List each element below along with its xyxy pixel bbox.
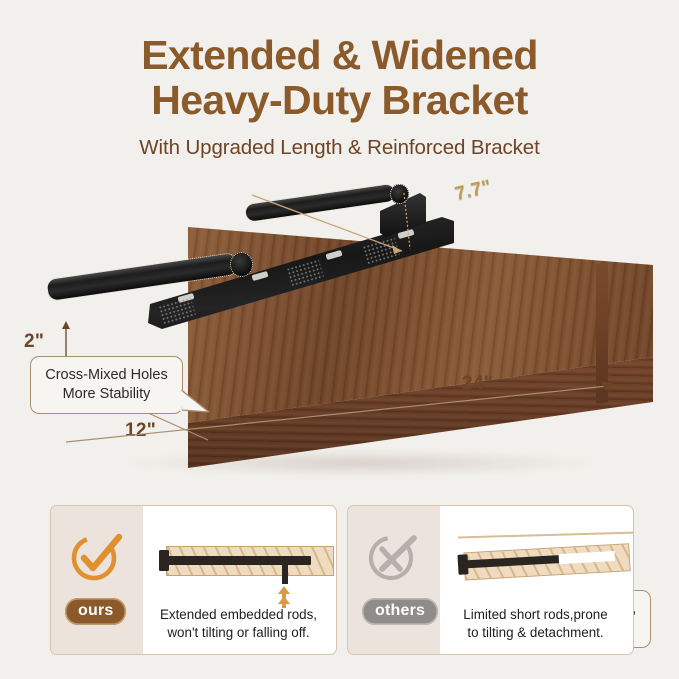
page-title: Extended & Widened Heavy-Duty Bracket (0, 33, 679, 123)
callout-cross-mixed-holes: Cross-Mixed Holes More Stability (30, 356, 183, 414)
up-arrow-icon-ours (277, 586, 291, 608)
panel-ours-caption: Extended embedded rods, won't tilting or… (147, 606, 330, 641)
product-hero-illustration: 7.7" 2" 12" 24" Cross-Mixed Holes More S… (0, 165, 679, 490)
embedded-rod-ours (167, 556, 311, 565)
panel-others-caption: Limited short rods,prone to tilting & de… (444, 606, 627, 641)
caption-line-1: Extended embedded rods, (147, 606, 330, 624)
product-infographic: Extended & Widened Heavy-Duty Bracket Wi… (0, 0, 679, 679)
dimension-label-rod-length: 7.7" (453, 176, 494, 206)
page-subtitle: With Upgraded Length & Reinforced Bracke… (0, 136, 679, 160)
comparison-panel-ours: ours Extended embedded rods, won't tilti… (50, 505, 337, 655)
badge-others: others (362, 598, 438, 625)
comparison-section: ours Extended embedded rods, won't tilti… (0, 505, 679, 665)
detach-gap-line (458, 532, 634, 539)
callout-tail (180, 387, 210, 413)
callout-line-2: More Stability (42, 385, 171, 404)
caption-line-2: to tilting & detachment. (444, 624, 627, 642)
caption-line-1: Limited short rods,prone (444, 606, 627, 624)
callout-line-1: Cross-Mixed Holes (42, 366, 171, 385)
check-circle-icon (69, 532, 125, 584)
x-circle-icon (366, 532, 422, 584)
caption-line-2: won't tilting or falling off. (147, 624, 330, 642)
rod-length-dimension-line (246, 187, 426, 277)
screw-ours (282, 564, 288, 584)
badge-ours: ours (65, 598, 126, 625)
title-line-2: Heavy-Duty Bracket (0, 78, 679, 123)
wood-cross-section-others-wrap (457, 539, 631, 585)
dimension-label-length: 24" (462, 373, 493, 395)
dimension-label-thickness: 2" (24, 331, 44, 353)
title-line-1: Extended & Widened (141, 32, 538, 78)
comparison-panel-others: others Limited short rods,prone to tilti… (347, 505, 634, 655)
